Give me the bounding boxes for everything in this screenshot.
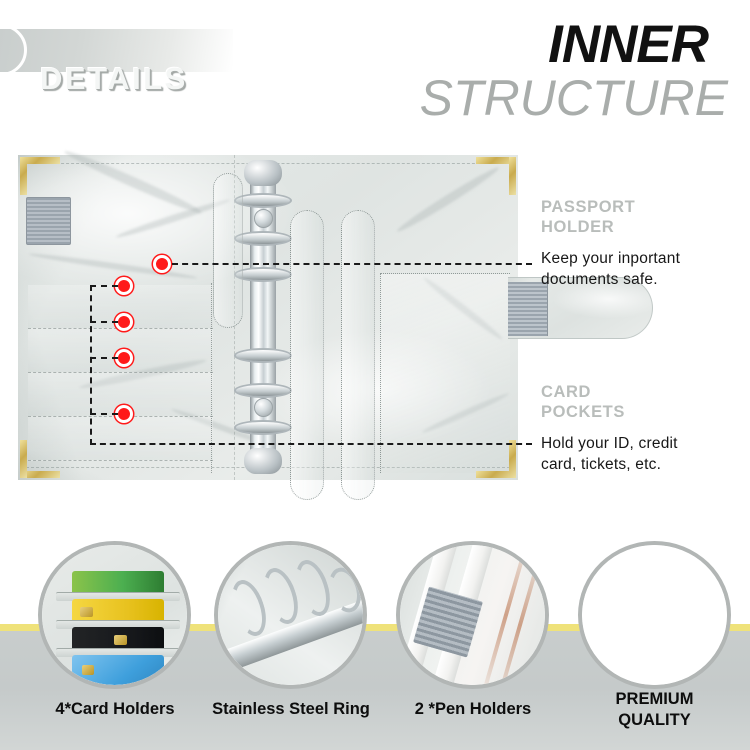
gold-corner-top-left [20,157,60,195]
binder-cap-bottom [244,448,282,474]
premium-thumb-background [582,545,727,685]
card-chip-icon [80,607,93,617]
pen-loop-1 [213,173,243,328]
annotation-title-card: CARD POCKETS [541,383,625,423]
card-chip-icon [114,635,127,645]
page-header: DETAILS INNER STRUCTURE [0,0,750,140]
annotation-title-passport-line2: HOLDER [541,218,614,236]
binder-bolt-bottom [254,398,273,417]
card-chip-icon [82,665,94,675]
feature-label-steel-ring: Stainless Steel Ring [186,699,396,720]
feature-thumb-pen-holders [396,541,549,689]
product-photo-open-planner [18,155,518,480]
callout-dot-passport [153,255,171,273]
annotation-title-passport: PASSPORT HOLDER [541,198,635,238]
page-title-line2: STRUCTURE [420,73,728,123]
pen-loop-2 [290,210,324,500]
marble-vein [28,251,197,281]
leader-card-2 [90,321,118,323]
binder-ring-4 [234,348,292,363]
page-title-line1: INNER [548,18,708,71]
annotation-body-passport-line1: Keep your inportant [541,250,680,267]
details-badge: DETAILS [0,29,233,72]
feature-label-premium-quality: PREMIUM QUALITY [578,689,731,730]
leader-card-4 [90,413,118,415]
leader-line-card-pockets [90,443,532,445]
annotation-body-card: Hold your ID, credit card, tickets, etc. [541,434,678,476]
binder-ring-6 [234,420,292,435]
leader-line-passport [172,263,532,265]
feature-thumb-premium-quality [578,541,731,689]
annotation-body-card-line1: Hold your ID, credit [541,435,678,452]
marble-vein [62,147,203,217]
bank-card-blue [72,655,164,685]
feature-label-pen-holders: 2 *Pen Holders [368,699,578,720]
annotation-body-passport: Keep your inportant documents safe. [541,249,680,291]
leader-card-1 [90,285,118,287]
annotation-title-card-line1: CARD [541,383,591,401]
feature-label-premium-line2: QUALITY [618,711,690,729]
feature-label-premium-line1: PREMIUM [616,690,694,708]
details-badge-label: DETAILS [40,61,188,97]
leader-card-bracket [90,285,92,445]
pen-loop-3 [341,210,375,500]
annotation-body-card-line2: card, tickets, etc. [541,456,661,473]
annotation-title-card-line2: POCKETS [541,403,625,421]
feature-thumb-card-holders [38,541,191,689]
leader-card-3 [90,357,118,359]
binder-cap-top [244,160,282,186]
gold-corner-top-right [476,157,516,195]
elastic-pen-loop-left [26,197,71,245]
gold-corner-bottom-left [20,440,60,478]
binder-ring-5 [234,383,292,398]
annotation-body-passport-line2: documents safe. [541,271,658,288]
binder-bolt-top [254,209,273,228]
annotation-title-passport-line1: PASSPORT [541,198,635,216]
gold-corner-bottom-right [476,440,516,478]
feature-thumb-steel-ring [214,541,367,689]
